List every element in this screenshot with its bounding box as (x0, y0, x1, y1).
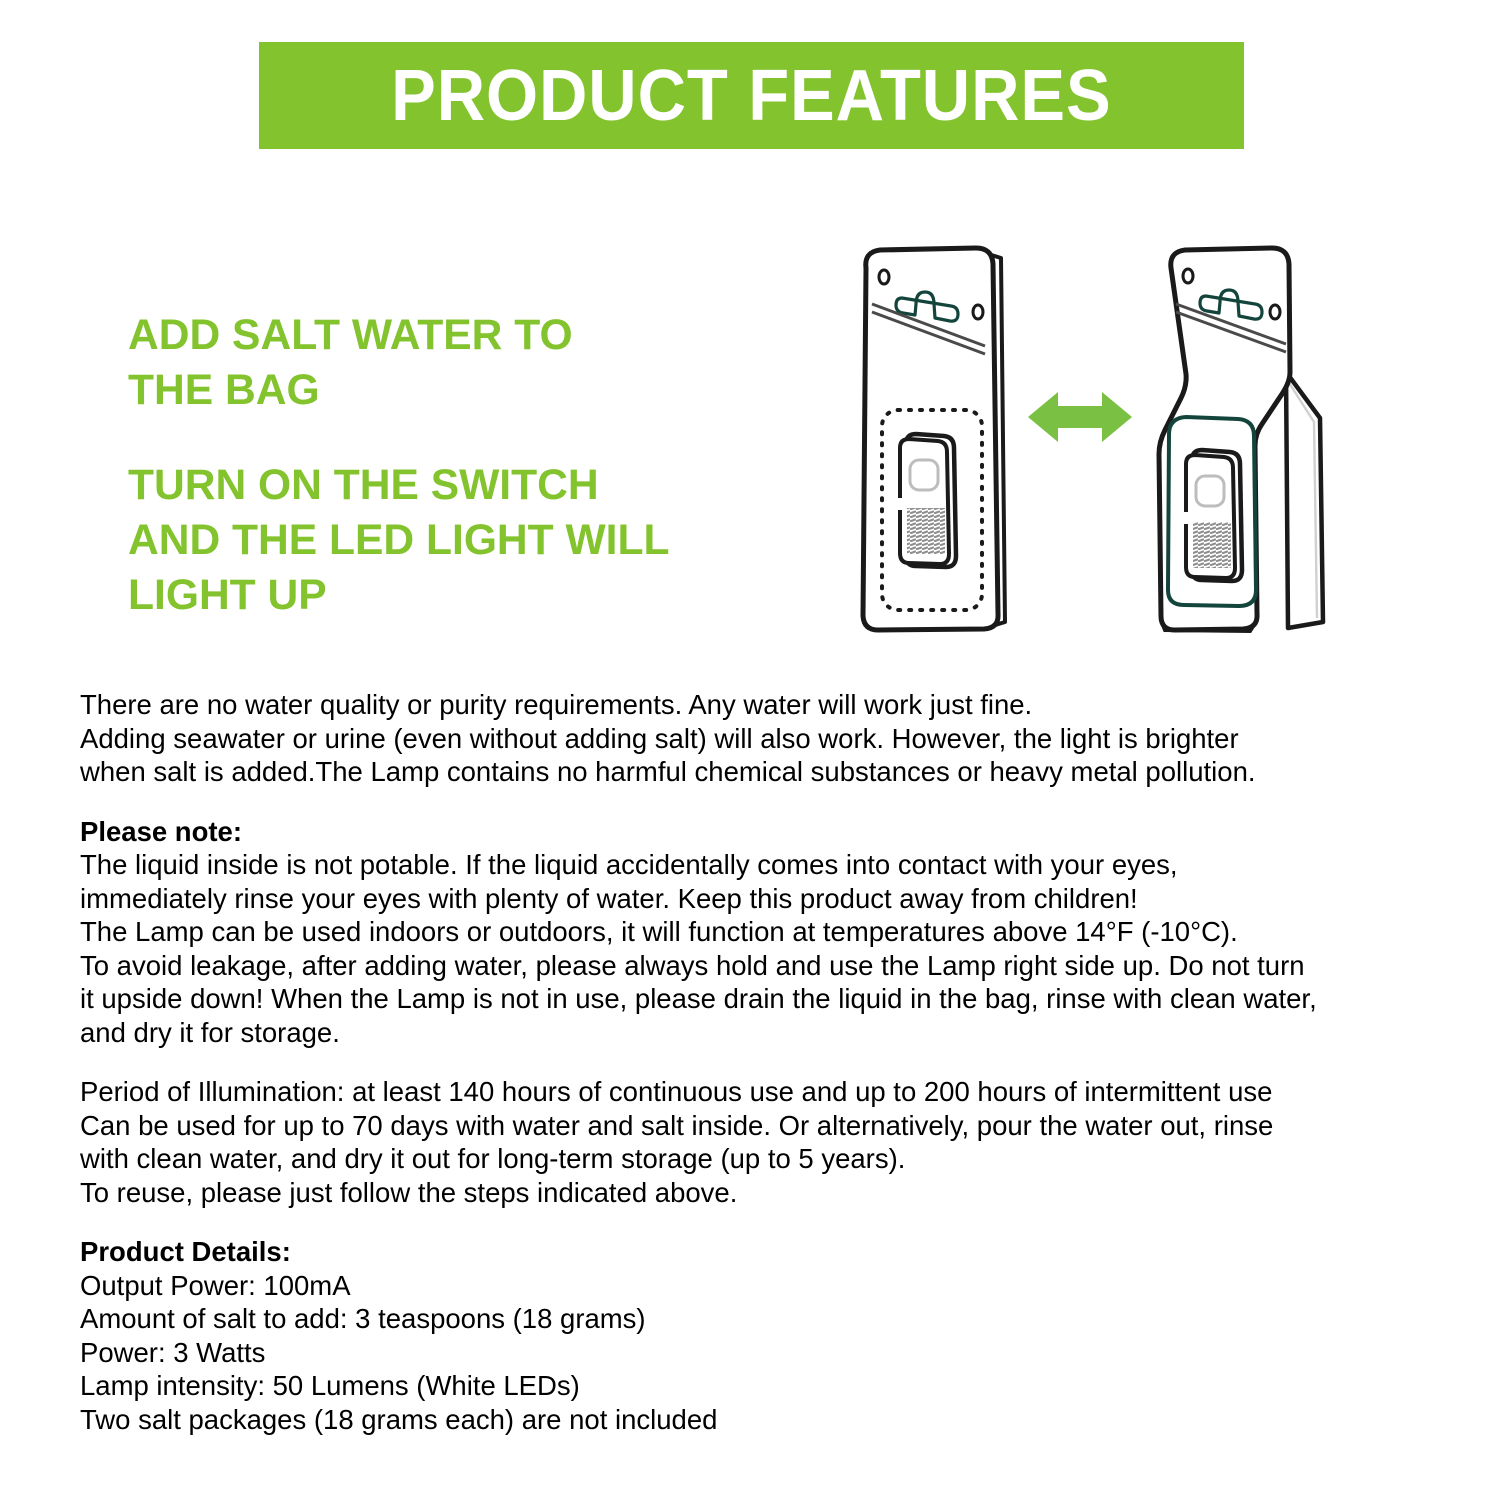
heading-line: LIGHT UP (128, 568, 762, 623)
heading-line: TURN ON THE SWITCH (128, 458, 762, 513)
right-bag-standing-pouch (1159, 248, 1323, 631)
body-line: immediately rinse your eyes with plenty … (80, 882, 1410, 916)
heading-turn-on-switch: TURN ON THE SWITCH AND THE LED LIGHT WIL… (128, 458, 762, 623)
body-line: The Lamp can be used indoors or outdoors… (80, 915, 1410, 949)
product-features-page: PRODUCT FEATURES ADD SALT WATER TO THE B… (0, 0, 1500, 1500)
paragraph-product-details: Product Details: Output Power: 100mA Amo… (80, 1235, 1410, 1436)
double-headed-arrow-icon (1028, 392, 1132, 442)
body-line: Adding seawater or urine (even without a… (80, 722, 1410, 756)
body-line: and dry it for storage. (80, 1016, 1410, 1050)
body-line: There are no water quality or purity req… (80, 688, 1410, 722)
body-line: To reuse, please just follow the steps i… (80, 1176, 1410, 1210)
body-line: Can be used for up to 70 days with water… (80, 1109, 1410, 1143)
body-copy: There are no water quality or purity req… (80, 688, 1410, 1436)
paragraph-water-quality: There are no water quality or purity req… (80, 688, 1410, 789)
body-line: with clean water, and dry it out for lon… (80, 1142, 1410, 1176)
heading-add-salt-water: ADD SALT WATER TO THE BAG (128, 308, 762, 418)
detail-line-output-power: Output Power: 100mA (80, 1269, 1410, 1303)
body-line: it upside down! When the Lamp is not in … (80, 982, 1410, 1016)
please-note-heading: Please note: (80, 815, 1410, 849)
heading-line: THE BAG (128, 363, 762, 418)
body-line: Period of Illumination: at least 140 hou… (80, 1075, 1410, 1109)
paragraph-illumination-period: Period of Illumination: at least 140 hou… (80, 1075, 1410, 1209)
bag-comparison-illustration (820, 222, 1390, 642)
body-line: To avoid leakage, after adding water, pl… (80, 949, 1410, 983)
paragraph-please-note: Please note: The liquid inside is not po… (80, 815, 1410, 1050)
detail-line-power: Power: 3 Watts (80, 1336, 1410, 1370)
body-line: The liquid inside is not potable. If the… (80, 848, 1410, 882)
heading-line: ADD SALT WATER TO (128, 308, 762, 363)
detail-line-lamp-intensity: Lamp intensity: 50 Lumens (White LEDs) (80, 1369, 1410, 1403)
heading-line: AND THE LED LIGHT WILL (128, 513, 762, 568)
instruction-headings: ADD SALT WATER TO THE BAG TURN ON THE SW… (128, 308, 768, 623)
left-bag-flat-pouch (863, 248, 1005, 630)
product-details-heading: Product Details: (80, 1235, 1410, 1269)
page-title: PRODUCT FEATURES (391, 60, 1111, 132)
body-line: when salt is added.The Lamp contains no … (80, 755, 1410, 789)
detail-line-salt-packages: Two salt packages (18 grams each) are no… (80, 1403, 1410, 1437)
page-header-banner: PRODUCT FEATURES (259, 42, 1244, 149)
detail-line-salt-amount: Amount of salt to add: 3 teaspoons (18 g… (80, 1302, 1410, 1336)
